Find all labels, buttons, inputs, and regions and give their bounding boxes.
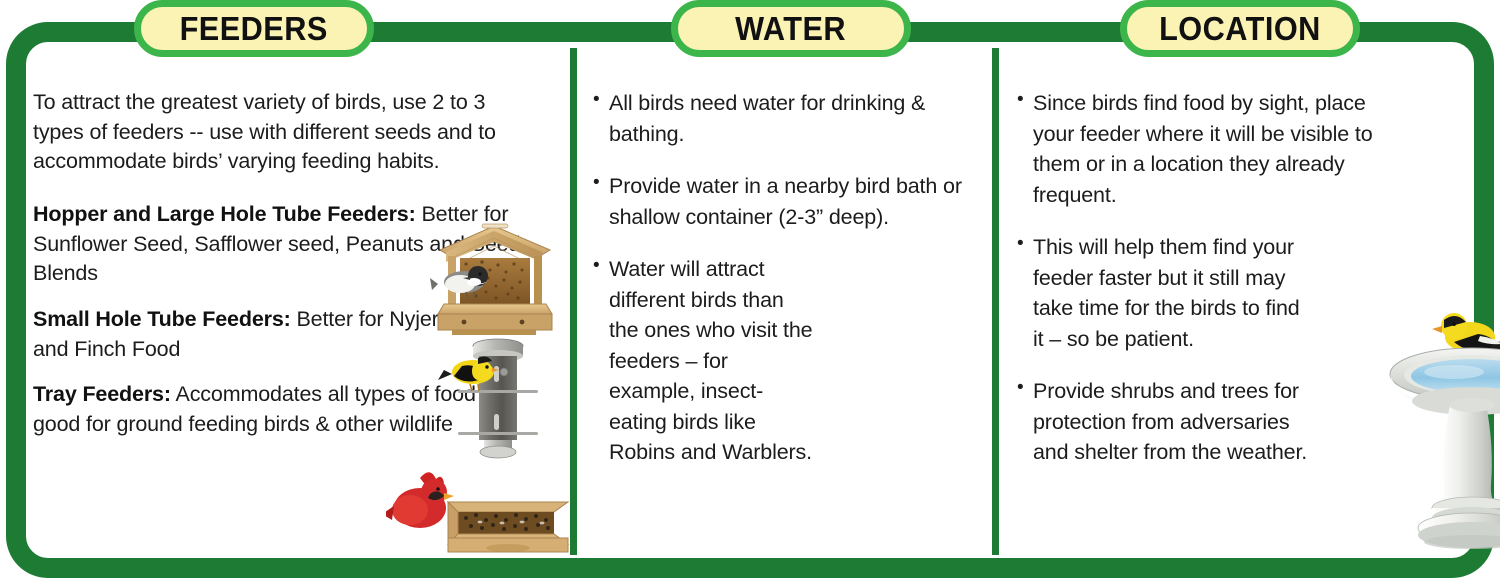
water-bullet-2: Provide water in a nearby bird bath or s…: [593, 171, 981, 232]
location-bullet-2: This will help them find your feeder fas…: [1017, 232, 1313, 354]
feeders-intro-paragraph: To attract the greatest variety of birds…: [33, 88, 523, 177]
location-bullet-1: Since birds find food by sight, place yo…: [1017, 88, 1408, 210]
pedestal-bird-bath-with-goldfinch-illustration: [1384, 304, 1500, 554]
feeders-entry-tray-term: Tray Feeders:: [33, 382, 171, 406]
feeders-entry-hopper-term: Hopper and Large Hole Tube Feeders:: [33, 202, 416, 226]
section-title-location: LOCATION: [1159, 12, 1321, 45]
tray-feeder-with-cardinal-illustration: [386, 462, 572, 560]
columns-container: To attract the greatest variety of birds…: [6, 22, 1494, 578]
water-bullet-1: All birds need water for drinking & bath…: [593, 88, 981, 149]
section-header-pill-location: LOCATION: [1120, 0, 1360, 57]
section-header-pill-water: WATER: [671, 0, 911, 57]
section-water: All birds need water for drinking & bath…: [576, 22, 998, 578]
water-bullet-3: Water will attract different birds than …: [593, 254, 817, 468]
section-header-pill-feeders: FEEDERS: [134, 0, 374, 57]
section-title-feeders: FEEDERS: [180, 12, 328, 45]
section-title-water: WATER: [736, 12, 847, 45]
location-bullet-3: Provide shrubs and trees for protection …: [1017, 376, 1313, 468]
section-feeders: To attract the greatest variety of birds…: [6, 22, 576, 578]
bird-feeding-tips-infographic: FEEDERS WATER LOCATION To attract the gr…: [0, 0, 1500, 585]
hopper-feeder-with-chickadee-illustration: [430, 220, 560, 338]
feeders-entry-small-hole-term: Small Hole Tube Feeders:: [33, 307, 291, 331]
tube-feeder-with-goldfinch-illustration: [438, 332, 558, 462]
